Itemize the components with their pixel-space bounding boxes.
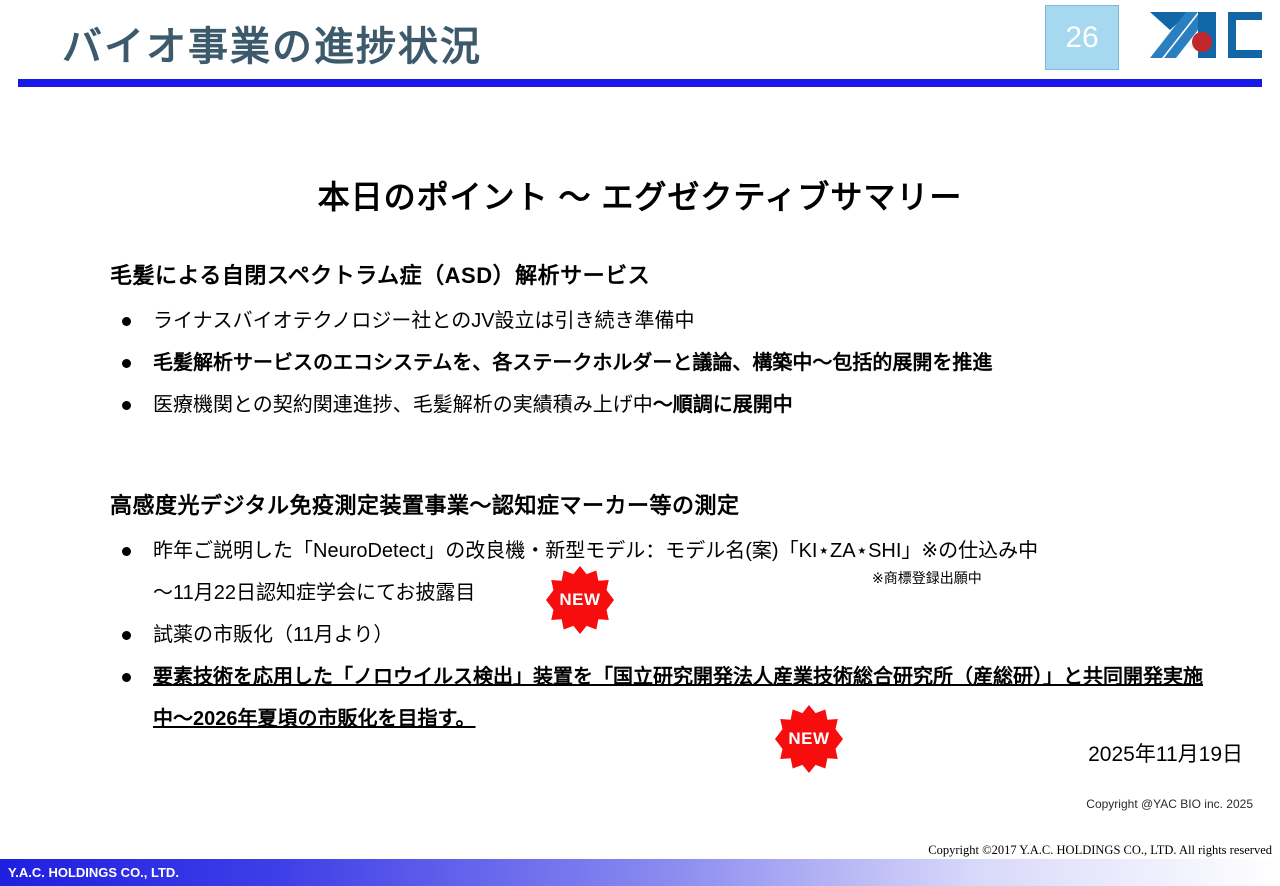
bullet-text: 試薬の市販化（11月より） — [153, 624, 393, 646]
footer-brand-label: Y.A.C. HOLDINGS CO., LTD. — [8, 865, 179, 880]
executive-summary-heading: 本日のポイント 〜 エグゼクティブサマリー — [0, 172, 1280, 218]
bullet-text: 要素技術を応用した「ノロウイルス検出」装置を「国立研究開発法人産業技術総合研究所… — [153, 666, 1203, 730]
footer-copyright: Copyright ©2017 Y.A.C. HOLDINGS CO., LTD… — [928, 843, 1272, 858]
section-2-heading: 高感度光デジタル免疫測定装置事業〜認知症マーカー等の測定 — [110, 488, 1230, 520]
bullet-text-line-1: 昨年ご説明した「NeuroDetect」の改良機・新型モデル：モデル名(案)「K… — [153, 540, 1038, 562]
list-item: 要素技術を応用した「ノロウイルス検出」装置を「国立研究開発法人産業技術総合研究所… — [110, 656, 1230, 740]
page-title: バイオ事業の進捗状況 — [62, 14, 482, 72]
section-immunoassay-device: 高感度光デジタル免疫測定装置事業〜認知症マーカー等の測定 昨年ご説明した「Neu… — [110, 488, 1230, 740]
bullet-dot-icon — [122, 317, 131, 326]
section-2-bullet-list: 昨年ご説明した「NeuroDetect」の改良機・新型モデル：モデル名(案)「K… — [110, 530, 1230, 740]
bullet-text-emphasis: 〜順調に展開中 — [653, 394, 793, 416]
list-item: 昨年ご説明した「NeuroDetect」の改良機・新型モデル：モデル名(案)「K… — [110, 530, 1230, 614]
bullet-dot-icon — [122, 401, 131, 410]
list-item: 医療機関との契約関連進捗、毛髪解析の実績積み上げ中〜順調に展開中 — [110, 384, 1230, 426]
yac-logo-icon — [1146, 6, 1266, 64]
section-asd-service: 毛髪による自閉スペクトラム症（ASD）解析サービス ライナスバイオテクノロジー社… — [110, 258, 1230, 426]
slide-footer: Y.A.C. HOLDINGS CO., LTD. — [0, 859, 1280, 886]
bullet-text: ライナスバイオテクノロジー社とのJV設立は引き続き準備中 — [153, 310, 695, 332]
section-1-bullet-list: ライナスバイオテクノロジー社とのJV設立は引き続き準備中 毛髪解析サービスのエコ… — [110, 300, 1230, 426]
title-underline-rule — [18, 79, 1262, 87]
list-item: 試薬の市販化（11月より） — [110, 614, 1230, 656]
bullet-dot-icon — [122, 547, 131, 556]
bullet-dot-icon — [122, 631, 131, 640]
bullet-text-regular: 医療機関との契約関連進捗、毛髪解析の実績積み上げ中 — [153, 394, 653, 416]
slide-copyright: Copyright @YAC BIO inc. 2025 — [0, 797, 1253, 811]
slide-header: バイオ事業の進捗状況 26 — [0, 0, 1280, 96]
page-number-label: 26 — [1065, 23, 1098, 53]
bullet-text: 毛髪解析サービスのエコシステムを、各ステークホルダーと議論、構築中〜包括的展開を… — [153, 352, 992, 374]
list-item: ライナスバイオテクノロジー社とのJV設立は引き続き準備中 — [110, 300, 1230, 342]
bullet-dot-icon — [122, 673, 131, 682]
page-number-badge: 26 — [1045, 5, 1119, 70]
trademark-footnote: ※商標登録出願中 — [872, 568, 982, 588]
slide-date: 2025年11月19日 — [0, 738, 1243, 768]
bullet-text-line-2: 〜11月22日認知症学会にてお披露目 — [153, 572, 1230, 614]
section-1-heading: 毛髪による自閉スペクトラム症（ASD）解析サービス — [110, 258, 1230, 290]
list-item: 毛髪解析サービスのエコシステムを、各ステークホルダーと議論、構築中〜包括的展開を… — [110, 342, 1230, 384]
bullet-dot-icon — [122, 359, 131, 368]
